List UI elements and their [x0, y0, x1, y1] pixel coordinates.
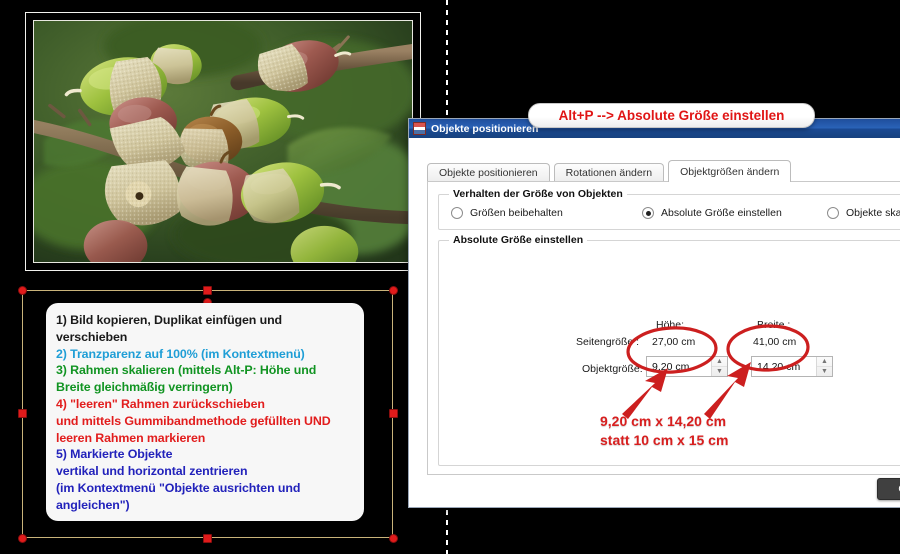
- radio-indicator: [451, 207, 463, 219]
- tab-strip: Objekte positionieren Rotationen ändern …: [427, 160, 795, 182]
- label-objektgroesse: Objektgröße:: [582, 363, 643, 375]
- tab-label: Objektgrößen ändern: [680, 166, 779, 178]
- list-item: 3) Rahmen skalieren (mittels Alt-P: Höhe…: [56, 362, 354, 396]
- objektgroesse-hoehe-spinner[interactable]: ▲ ▼: [646, 356, 728, 377]
- handle-top-right[interactable]: [389, 286, 398, 295]
- radio-label: Größen beibehalten: [470, 207, 563, 219]
- radio-objekte-skalieren[interactable]: Objekte skalieren: [827, 207, 900, 219]
- group-title-verhalten: Verhalten der Größe von Objekten: [449, 188, 627, 200]
- dialog-body: Objekte positionieren Rotationen ändern …: [409, 138, 900, 508]
- dialog-title: Objekte positionieren: [431, 123, 538, 135]
- header-hoehe: Höhe:: [656, 319, 684, 331]
- radio-indicator: [827, 207, 839, 219]
- screenshot-root: 1) Bild kopieren, Duplikat einfügen und …: [0, 0, 900, 554]
- handle-bottom-right[interactable]: [389, 534, 398, 543]
- spinner-buttons-hoehe[interactable]: ▲ ▼: [711, 357, 727, 376]
- spinner-down-icon[interactable]: ▼: [817, 367, 832, 376]
- group-verhalten-groesse: Verhalten der Größe von Objekten Größen …: [438, 194, 900, 230]
- list-item: 1) Bild kopieren, Duplikat einfügen und …: [56, 312, 354, 346]
- radio-absolute-groesse-einstellen[interactable]: Absolute Größe einstellen: [642, 207, 782, 219]
- tab-label: Objekte positionieren: [439, 167, 538, 179]
- spinner-up-icon[interactable]: ▲: [817, 357, 832, 367]
- instructions-note[interactable]: 1) Bild kopieren, Duplikat einfügen und …: [46, 303, 364, 521]
- acorn-photo-image: [34, 21, 412, 263]
- handle-middle-left[interactable]: [18, 409, 27, 418]
- radio-label: Absolute Größe einstellen: [661, 207, 782, 219]
- tab-objektgroessen-aendern[interactable]: Objektgrößen ändern: [668, 160, 791, 182]
- objektgroesse-hoehe-input[interactable]: [647, 357, 711, 376]
- handle-bottom-left[interactable]: [18, 534, 27, 543]
- shortcut-tooltip: Alt+P --> Absolute Größe einstellen: [528, 103, 815, 128]
- photo-inner-frame: [33, 20, 413, 263]
- handle-top-left[interactable]: [18, 286, 27, 295]
- instructions-list: 1) Bild kopieren, Duplikat einfügen und …: [56, 312, 354, 514]
- window-icon: [413, 122, 426, 135]
- acorn-photo-object[interactable]: [25, 12, 421, 271]
- spinner-up-icon[interactable]: ▲: [712, 357, 727, 367]
- objektgroesse-breite-input[interactable]: [752, 357, 816, 376]
- value-seiten-hoehe: 27,00 cm: [652, 336, 695, 348]
- list-item: 2) Tranzparenz auf 100% (im Kontextmenü): [56, 346, 354, 363]
- radio-label: Objekte skalieren: [846, 207, 900, 219]
- list-item: 5) Markierte Objekte vertikal und horizo…: [56, 446, 354, 513]
- objektgroesse-breite-spinner[interactable]: ▲ ▼: [751, 356, 833, 377]
- spinner-down-icon[interactable]: ▼: [712, 367, 727, 376]
- label-seitengroesse: Seitengröße :: [576, 336, 639, 348]
- tab-label: Rotationen ändern: [566, 167, 652, 179]
- handle-middle-right[interactable]: [389, 409, 398, 418]
- ok-button[interactable]: OK: [877, 478, 900, 500]
- radio-indicator-selected: [642, 207, 654, 219]
- list-item: 4) "leeren" Rahmen zurückschieben und mi…: [56, 396, 354, 446]
- tab-objekte-positionieren[interactable]: Objekte positionieren: [427, 163, 550, 182]
- radio-groessen-beibehalten[interactable]: Größen beibehalten: [451, 207, 563, 219]
- annotation-text: 9,20 cm x 14,20 cm statt 10 cm x 15 cm: [600, 412, 728, 450]
- group-title-absolute: Absolute Größe einstellen: [449, 234, 587, 246]
- radio-group-verhalten: Größen beibehalten Absolute Größe einste…: [439, 207, 900, 223]
- handle-bottom-center[interactable]: [203, 534, 212, 543]
- spinner-buttons-breite[interactable]: ▲ ▼: [816, 357, 832, 376]
- handle-top-center[interactable]: [203, 286, 212, 295]
- value-seiten-breite: 41,00 cm: [753, 336, 796, 348]
- tab-rotationen-aendern[interactable]: Rotationen ändern: [554, 163, 664, 182]
- header-breite: Breite :: [757, 319, 790, 331]
